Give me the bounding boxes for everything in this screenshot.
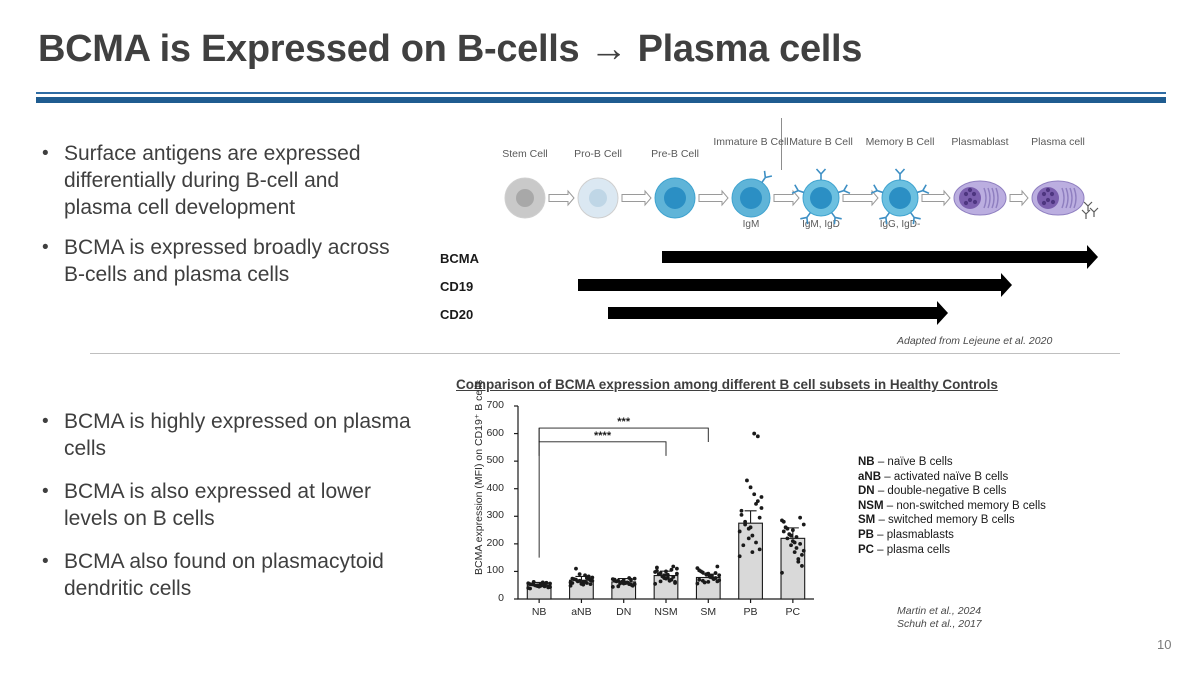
page-title: BCMA is Expressed on B-cells → Plasma ce… [38,28,862,71]
bcma-expression-bar-chart: 0100200300400500600700NBaNBDNNSMSMPBPC**… [476,400,826,625]
legend-item: NB – naïve B cells [858,455,1046,470]
legend-description: plasma cells [887,544,950,556]
significance-annotation: **** [594,430,612,442]
bullet-text: BCMA is expressed broadly across B-cells… [64,234,412,288]
legend-item: PB – plasmablasts [858,528,1046,543]
significance-annotation: *** [617,416,631,428]
citations: Martin et al., 2024Schuh et al., 2017 [897,605,982,631]
marker-arrows: BCMACD19CD20 [440,243,1120,328]
section-divider [90,353,1120,354]
legend-description: double-negative B cells [887,485,1006,497]
legend-item: NSM – non-switched memory B cells [858,499,1046,514]
bullet-item: •BCMA is also expressed at lower levels … [42,478,422,532]
legend-item: aNB – activated naïve B cells [858,470,1046,485]
legend-description: activated naïve B cells [894,471,1008,483]
chart-plot-area: ******* [476,400,826,625]
legend-item: SM – switched memory B cells [858,513,1046,528]
legend-abbreviation: DN [858,485,875,497]
bullet-item: •BCMA is expressed broadly across B-cell… [42,234,412,288]
legend-description: switched memory B cells [888,514,1015,526]
legend-description: plasmablasts [887,529,954,541]
legend-abbreviation: NSM [858,500,884,512]
cell-lineage-graphic [470,118,1120,243]
bullet-text: BCMA also found on plasmacytoid dendriti… [64,548,422,602]
title-rule-thin [36,92,1166,94]
marker-arrow-graphic [440,243,1120,328]
legend-abbreviation: SM [858,514,875,526]
subset-legend: NB – naïve B cellsaNB – activated naïve … [858,455,1046,557]
legend-abbreviation: PC [858,544,874,556]
citation-line: Martin et al., 2024 [897,605,982,618]
bullet-dot-icon: • [42,478,64,532]
title-rule-thick [36,97,1166,103]
citation-line: Schuh et al., 2017 [897,618,982,631]
bullet-list-bottom: •BCMA is highly expressed on plasma cell… [42,408,422,618]
bullet-dot-icon: • [42,234,64,288]
bullet-dot-icon: • [42,548,64,602]
legend-item: DN – double-negative B cells [858,484,1046,499]
bullet-dot-icon: • [42,140,64,221]
bullet-dot-icon: • [42,408,64,462]
bullet-text: BCMA is also expressed at lower levels o… [64,478,422,532]
legend-description: naïve B cells [887,456,952,468]
bullet-text: Surface antigens are expressed different… [64,140,412,221]
y-axis-label: BCMA expression (MFI) on CD19⁺ B cells [473,425,486,575]
bullet-item: •Surface antigens are expressed differen… [42,140,412,221]
adapted-attribution: Adapted from Lejeune et al. 2020 [897,335,1052,347]
legend-abbreviation: NB [858,456,875,468]
legend-abbreviation: PB [858,529,874,541]
legend-description: non-switched memory B cells [896,500,1046,512]
legend-abbreviation: aNB [858,471,881,483]
chart-title: Comparison of BCMA expression among diff… [456,377,998,392]
bullet-item: •BCMA also found on plasmacytoid dendrit… [42,548,422,602]
bullet-item: •BCMA is highly expressed on plasma cell… [42,408,422,462]
bullet-list-top: •Surface antigens are expressed differen… [42,140,412,301]
b-cell-development-diagram: Stem CellPro-B CellPre-B CellImmature B … [470,118,1120,243]
slide-number: 10 [1157,637,1171,652]
slide: BCMA is Expressed on B-cells → Plasma ce… [0,0,1200,675]
legend-item: PC – plasma cells [858,543,1046,558]
bullet-text: BCMA is highly expressed on plasma cells [64,408,422,462]
